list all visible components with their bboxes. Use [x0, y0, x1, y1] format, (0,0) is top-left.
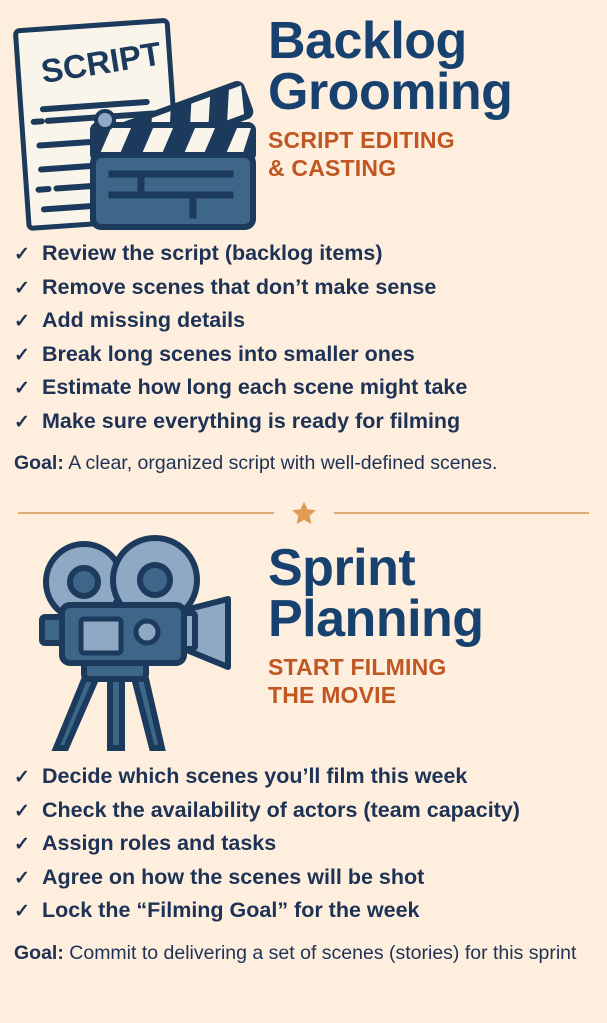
- sprint-subtitle-line1: START FILMING: [268, 654, 607, 682]
- list-item: ✓ Assign roles and tasks: [14, 833, 604, 855]
- backlog-checklist: ✓ Review the script (backlog items) ✓ Re…: [14, 243, 604, 432]
- script-clapperboard-icon: SCRIPT: [8, 12, 258, 237]
- list-item: ✓ Lock the “Filming Goal” for the week: [14, 900, 604, 922]
- backlog-checklist-area: ✓ Review the script (backlog items) ✓ Re…: [14, 243, 604, 476]
- backlog-goal: Goal: A clear, organized script with wel…: [14, 450, 604, 476]
- script-clapperboard-illustration: SCRIPT: [8, 12, 258, 242]
- list-item: ✓ Agree on how the scenes will be shot: [14, 867, 604, 889]
- section-sprint-planning-header: Sprint Planning START FILMING THE MOVIE: [0, 535, 607, 765]
- backlog-title-line1: Backlog: [268, 16, 607, 67]
- check-icon: ✓: [14, 835, 42, 854]
- list-item-label: Assign roles and tasks: [42, 833, 604, 855]
- sprint-titles: Sprint Planning START FILMING THE MOVIE: [268, 535, 607, 709]
- backlog-subtitle-line2: & CASTING: [268, 155, 607, 183]
- section-backlog-grooming-header: SCRIPT: [0, 12, 607, 242]
- sprint-goal: Goal: Commit to delivering a set of scen…: [14, 940, 604, 966]
- list-item-label: Make sure everything is ready for filmin…: [42, 411, 604, 433]
- list-item-label: Check the availability of actors (team c…: [42, 800, 604, 822]
- goal-label: Goal:: [14, 452, 64, 474]
- backlog-subtitle: SCRIPT EDITING & CASTING: [268, 127, 607, 182]
- goal-label: Goal:: [14, 942, 64, 964]
- list-item-label: Review the script (backlog items): [42, 243, 604, 265]
- list-item-label: Remove scenes that don’t make sense: [42, 277, 604, 299]
- movie-camera-icon: [14, 535, 264, 760]
- list-item: ✓ Remove scenes that don’t make sense: [14, 277, 604, 299]
- check-icon: ✓: [14, 869, 42, 888]
- movie-camera-illustration: [14, 535, 264, 765]
- check-icon: ✓: [14, 245, 42, 264]
- list-item-label: Lock the “Filming Goal” for the week: [42, 900, 604, 922]
- list-item: ✓ Add missing details: [14, 310, 604, 332]
- infographic-page: SCRIPT: [0, 0, 607, 1023]
- backlog-titles: Backlog Grooming SCRIPT EDITING & CASTIN…: [268, 12, 607, 182]
- divider-line-right: [334, 512, 590, 514]
- divider-line-left: [18, 512, 274, 514]
- backlog-subtitle-line1: SCRIPT EDITING: [268, 127, 607, 155]
- list-item: ✓ Estimate how long each scene might tak…: [14, 377, 604, 399]
- list-item-label: Break long scenes into smaller ones: [42, 344, 604, 366]
- check-icon: ✓: [14, 312, 42, 331]
- sprint-subtitle: START FILMING THE MOVIE: [268, 654, 607, 709]
- check-icon: ✓: [14, 768, 42, 787]
- sprint-title-line2: Planning: [268, 594, 607, 645]
- list-item-label: Estimate how long each scene might take: [42, 377, 604, 399]
- list-item: ✓ Decide which scenes you’ll film this w…: [14, 766, 604, 788]
- goal-text: Commit to delivering a set of scenes (st…: [69, 942, 576, 964]
- check-icon: ✓: [14, 902, 42, 921]
- list-item: ✓ Make sure everything is ready for film…: [14, 411, 604, 433]
- section-divider: [18, 500, 589, 526]
- list-item-label: Add missing details: [42, 310, 604, 332]
- check-icon: ✓: [14, 346, 42, 365]
- check-icon: ✓: [14, 379, 42, 398]
- list-item: ✓ Check the availability of actors (team…: [14, 800, 604, 822]
- sprint-subtitle-line2: THE MOVIE: [268, 682, 607, 710]
- check-icon: ✓: [14, 802, 42, 821]
- backlog-title-line2: Grooming: [268, 67, 607, 118]
- list-item: ✓ Review the script (backlog items): [14, 243, 604, 265]
- sprint-title-line1: Sprint: [268, 543, 607, 594]
- list-item-label: Agree on how the scenes will be shot: [42, 867, 604, 889]
- goal-text: A clear, organized script with well-defi…: [68, 452, 497, 474]
- star-icon: [291, 500, 317, 526]
- sprint-checklist: ✓ Decide which scenes you’ll film this w…: [14, 766, 604, 922]
- sprint-checklist-area: ✓ Decide which scenes you’ll film this w…: [14, 766, 604, 966]
- check-icon: ✓: [14, 279, 42, 298]
- list-item-label: Decide which scenes you’ll film this wee…: [42, 766, 604, 788]
- list-item: ✓ Break long scenes into smaller ones: [14, 344, 604, 366]
- check-icon: ✓: [14, 413, 42, 432]
